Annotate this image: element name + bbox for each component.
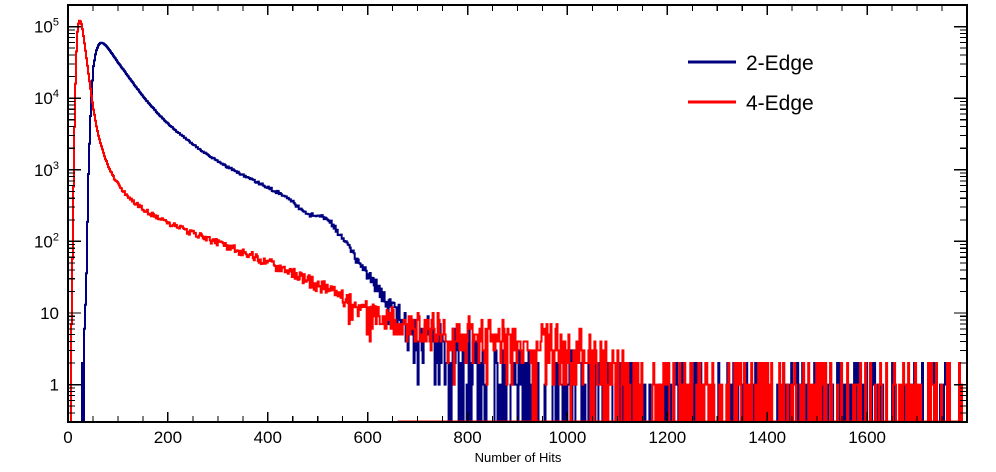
chart-canvas: 02004006008001000120014001600 1101021031…	[0, 0, 996, 472]
legend-label-4-edge: 4-Edge	[746, 92, 814, 115]
x-tick-label: 200	[154, 428, 182, 447]
x-tick-label: 1200	[648, 428, 686, 447]
legend-label-2-edge: 2-Edge	[746, 52, 814, 75]
x-tick-label: 400	[254, 428, 282, 447]
histogram-plot: 02004006008001000120014001600 1101021031…	[0, 0, 996, 472]
y-tick-label: 1	[50, 376, 59, 395]
x-tick-label: 800	[453, 428, 481, 447]
y-tick-label: 10	[40, 304, 59, 323]
x-tick-label: 0	[63, 428, 72, 447]
x-tick-label: 1400	[748, 428, 786, 447]
x-axis-title: Number of Hits	[475, 450, 562, 465]
x-tick-label: 1600	[848, 428, 886, 447]
x-tick-label: 600	[353, 428, 381, 447]
x-tick-label: 1000	[549, 428, 587, 447]
